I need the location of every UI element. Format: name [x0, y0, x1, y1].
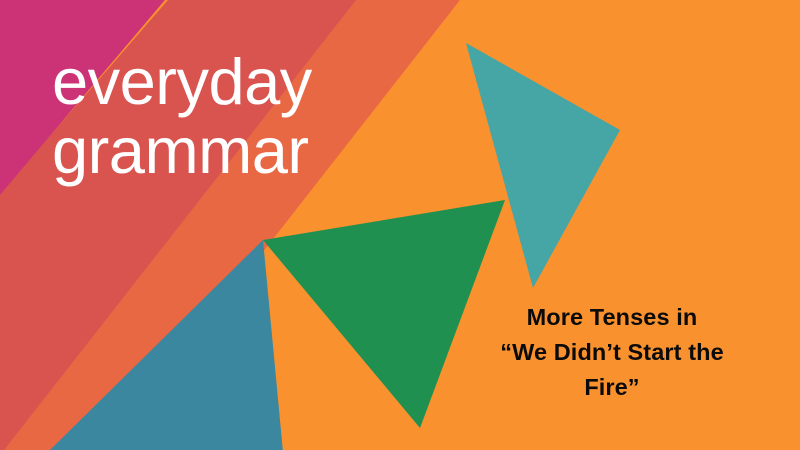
background-graphic	[0, 0, 800, 450]
artboard: everyday grammar More Tenses in “We Didn…	[0, 0, 800, 450]
thumbnail-canvas: everyday grammar More Tenses in “We Didn…	[0, 0, 800, 450]
